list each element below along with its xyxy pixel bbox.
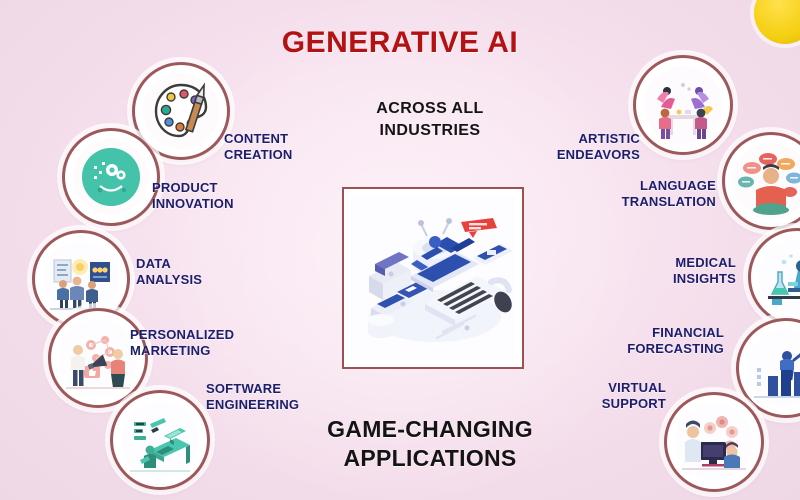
label-product-innovation-line2: INNOVATION	[152, 196, 292, 212]
bubble-virtual-support[interactable]	[664, 392, 764, 492]
label-language-translation-line2: TRANSLATION	[580, 194, 716, 210]
label-content-creation-line1: CONTENT	[224, 131, 344, 147]
gears-lightbulb-icon	[72, 138, 150, 216]
bar-chart-growth-icon	[746, 328, 800, 408]
label-product-innovation: PRODUCT INNOVATION	[152, 180, 292, 212]
subtitle-heading: ACROSS ALL INDUSTRIES	[330, 98, 530, 141]
label-language-translation-line1: LANGUAGE	[580, 178, 716, 194]
label-artistic-endeavors-line1: ARTISTIC	[516, 131, 640, 147]
isometric-ai-workspace-icon	[351, 196, 515, 360]
label-software-engineering-line2: ENGINEERING	[206, 397, 346, 413]
generative-ai-infographic: GENERATIVE AI ACROSS ALL INDUSTRIES	[0, 0, 800, 500]
center-illustration-frame	[342, 187, 524, 369]
footer-heading: GAME-CHANGING APPLICATIONS	[250, 415, 610, 473]
label-virtual-support: VIRTUAL SUPPORT	[556, 380, 666, 412]
footer-line-2: APPLICATIONS	[250, 444, 610, 473]
bubble-product-innovation[interactable]	[62, 128, 160, 226]
social-engagement-icon	[58, 318, 138, 398]
label-virtual-support-line1: VIRTUAL	[556, 380, 666, 396]
data-dashboard-icon	[42, 240, 120, 318]
artists-table-icon	[643, 65, 723, 145]
label-artistic-endeavors-line2: ENDEAVORS	[516, 147, 640, 163]
label-product-innovation-line1: PRODUCT	[152, 180, 292, 196]
support-agents-icon	[674, 402, 754, 482]
label-personalized-marketing: PERSONALIZED MARKETING	[130, 327, 290, 359]
bubble-medical-insights[interactable]	[748, 228, 800, 326]
label-data-analysis-line2: ANALYSIS	[136, 272, 246, 288]
label-software-engineering-line1: SOFTWARE	[206, 381, 346, 397]
paint-palette-icon	[142, 72, 220, 150]
label-medical-insights: MEDICAL INSIGHTS	[620, 255, 736, 287]
label-content-creation: CONTENT CREATION	[224, 131, 344, 163]
label-medical-insights-line1: MEDICAL	[620, 255, 736, 271]
developer-desk-icon	[120, 400, 200, 480]
label-financial-forecasting: FINANCIAL FORECASTING	[592, 325, 724, 357]
bubble-language-translation[interactable]	[722, 132, 800, 230]
label-software-engineering: SOFTWARE ENGINEERING	[206, 381, 346, 413]
label-personalized-marketing-line1: PERSONALIZED	[130, 327, 290, 343]
subtitle-line-1: ACROSS ALL	[330, 98, 530, 120]
label-virtual-support-line2: SUPPORT	[556, 396, 666, 412]
label-data-analysis-line1: DATA	[136, 256, 246, 272]
label-medical-insights-line2: INSIGHTS	[620, 271, 736, 287]
label-content-creation-line2: CREATION	[224, 147, 344, 163]
label-artistic-endeavors: ARTISTIC ENDEAVORS	[516, 131, 640, 163]
label-financial-forecasting-line1: FINANCIAL	[592, 325, 724, 341]
bubble-artistic-endeavors[interactable]	[633, 55, 733, 155]
speech-bubbles-person-icon	[732, 142, 800, 220]
subtitle-line-2: INDUSTRIES	[330, 120, 530, 142]
bubble-software-engineering[interactable]	[110, 390, 210, 490]
label-personalized-marketing-line2: MARKETING	[130, 343, 290, 359]
medical-lab-icon	[758, 238, 800, 316]
footer-line-1: GAME-CHANGING	[250, 415, 610, 444]
label-financial-forecasting-line2: FORECASTING	[592, 341, 724, 357]
label-data-analysis: DATA ANALYSIS	[136, 256, 246, 288]
label-language-translation: LANGUAGE TRANSLATION	[580, 178, 716, 210]
